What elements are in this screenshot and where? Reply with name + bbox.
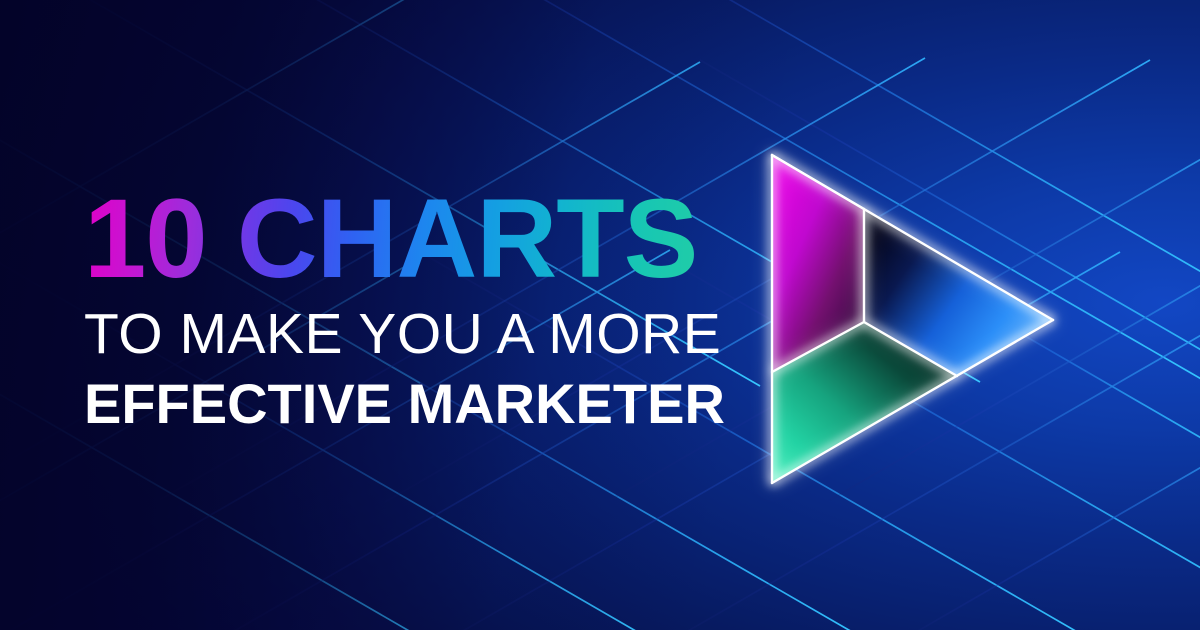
banner-canvas: 10 CHARTS TO MAKE YOU A MORE EFFECTIVE M…	[0, 0, 1200, 630]
page-title: 10 CHARTS	[84, 186, 724, 292]
subtitle-line-1: TO MAKE YOU A MORE	[84, 306, 724, 363]
headline-block: 10 CHARTS TO MAKE YOU A MORE EFFECTIVE M…	[84, 186, 724, 432]
subtitle-line-2: EFFECTIVE MARKETER	[84, 376, 724, 432]
